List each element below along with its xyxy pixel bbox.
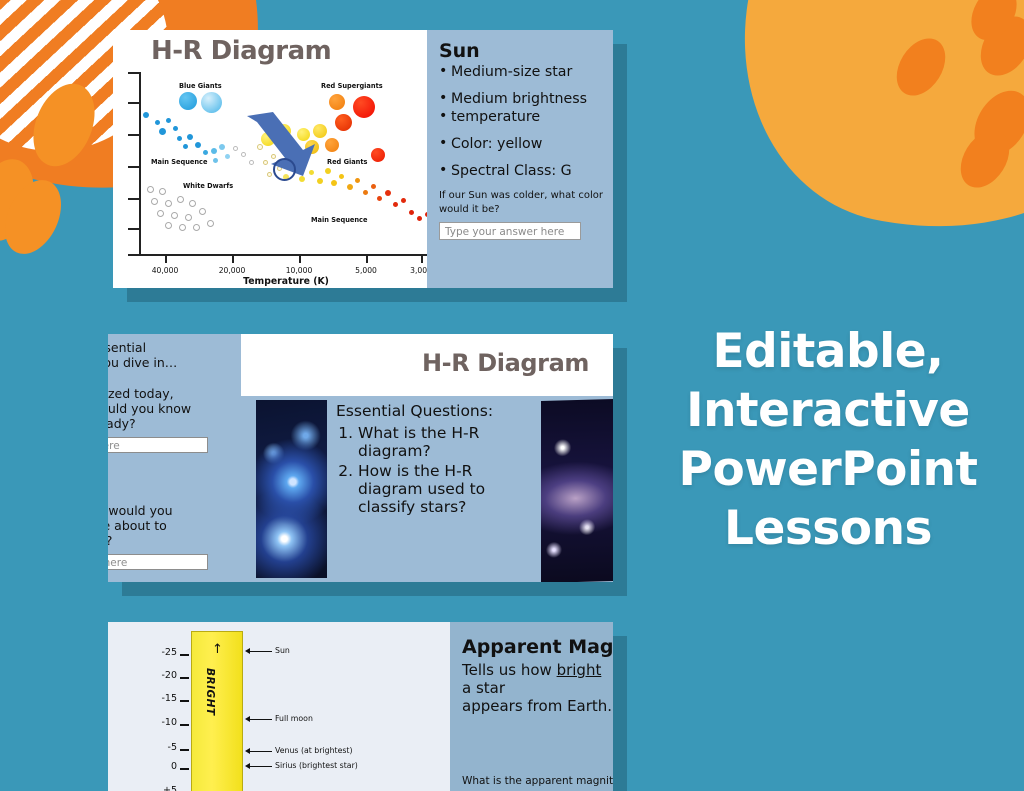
label-red-supergiants: Red Supergiants xyxy=(321,82,383,90)
slide-3-chart-area: Apparent Magnitude ↑ BRIGHT -25 -20 -15 … xyxy=(108,622,450,791)
orange-dot-4 xyxy=(962,0,1024,48)
mag-tick-+5: +5 xyxy=(151,785,177,791)
slide-2-answer-input-2[interactable]: r here xyxy=(108,554,208,570)
essential-questions-list: What is the H-R diagram? How is the H-R … xyxy=(336,424,511,516)
orange-dot-2 xyxy=(970,7,1024,85)
slide-3-text-suffix: a star xyxy=(462,679,505,697)
x-tick-40000: 40,000 xyxy=(145,266,185,275)
mag-tick--20: -20 xyxy=(151,670,177,681)
headline-line-4: Lessons xyxy=(640,499,1016,558)
slide-2-q2-line-3: tly? xyxy=(108,533,238,548)
slide-2-q1-line-2: would you know xyxy=(108,401,238,416)
orange-dot-3 xyxy=(963,81,1024,166)
orange-dot-5 xyxy=(951,122,1019,197)
slide-1-answer-input[interactable]: Type your answer here xyxy=(439,222,581,240)
slide-3-text-line-2: appears from Earth. xyxy=(462,697,612,715)
milky-way-image xyxy=(541,399,613,582)
x-tick-20000: 20,000 xyxy=(212,266,252,275)
x-tick-10000: 10,000 xyxy=(279,266,319,275)
headline-line-1: Editable, xyxy=(640,322,1016,381)
mag-tick-0: 0 xyxy=(151,761,177,772)
question-item-1: What is the H-R diagram? xyxy=(358,424,511,460)
up-arrow-icon: ↑ xyxy=(212,642,223,657)
slide-1-chart-area: H-R Diagram 40,000 xyxy=(113,30,427,288)
slide-3-apparent-magnitude[interactable]: Apparent Magnitude ↑ BRIGHT -25 -20 -15 … xyxy=(108,622,613,791)
label-main-sequence-upper: Main Sequence xyxy=(151,158,207,166)
orange-dot-1 xyxy=(887,30,955,105)
slide-2-right-panel: H-R Diagram Essential Questions: What is… xyxy=(241,334,613,582)
x-axis-title: Temperature (K) xyxy=(139,276,433,287)
slide-1-panel-heading: Sun xyxy=(439,40,603,62)
callout-sun: Sun xyxy=(275,646,290,655)
bullet-temperature-cont: temperature xyxy=(439,109,603,125)
slide-3-underlined-word: bright xyxy=(557,661,602,679)
slide-2-content: Essential Questions: What is the H-R dia… xyxy=(241,396,613,582)
label-red-giants: Red Giants xyxy=(327,158,367,166)
essential-questions-block: Essential Questions: What is the H-R dia… xyxy=(336,402,511,518)
slide-1-title: H-R Diagram xyxy=(151,36,331,66)
hr-diagram-chart: 40,000 20,000 10,000 5,000 3,000 Tempera… xyxy=(121,70,451,285)
essential-questions-heading: Essential Questions: xyxy=(336,402,511,420)
orange-ellipse-3 xyxy=(0,171,72,263)
bullet-medium-brightness: Medium brightness xyxy=(439,91,603,107)
mag-tick--25: -25 xyxy=(151,647,177,658)
x-tick-5000: 5,000 xyxy=(346,266,386,275)
headline-line-3: PowerPoint xyxy=(640,440,1016,499)
slide-2-essential-questions[interactable]: Essential you dive in… uizzed today, wou… xyxy=(108,334,613,582)
y-axis xyxy=(139,72,141,254)
slide-2-left-panel: Essential you dive in… uizzed today, wou… xyxy=(108,334,238,582)
slide-3-heading: Apparent Magnitude xyxy=(462,636,613,658)
bright-label: BRIGHT xyxy=(204,668,216,716)
slide-2-q2-line-2: ore about to xyxy=(108,518,238,533)
headline-line-2: Interactive xyxy=(640,381,1016,440)
slide-2-q2-line-1: ns would you xyxy=(108,503,238,518)
orange-ellipse-1 xyxy=(22,75,106,176)
callout-sirius: Sirius (brightest star) xyxy=(275,761,358,770)
slide-2-q1-line-3: lready? xyxy=(108,416,238,431)
slide-2-header-line-2: you dive in… xyxy=(108,355,238,370)
callout-full-moon: Full moon xyxy=(275,714,313,723)
slide-1-hr-diagram[interactable]: H-R Diagram 40,000 xyxy=(113,30,613,288)
slide-3-question: What is the apparent magnitude xyxy=(462,775,613,787)
question-item-2: How is the H-R diagram used to classify … xyxy=(358,462,511,516)
slide-2-header-line-1: Essential xyxy=(108,340,238,355)
orange-ellipse-2 xyxy=(0,152,44,249)
mag-tick--5: -5 xyxy=(151,742,177,753)
label-white-dwarfs: White Dwarfs xyxy=(183,182,233,190)
mag-tick--10: -10 xyxy=(151,717,177,728)
top-right-orange-blob xyxy=(709,0,1024,267)
slide-1-info-panel: Sun Medium-size star Medium brightness t… xyxy=(427,30,613,288)
slide-2-header-bar: H-R Diagram xyxy=(241,334,613,396)
slide-1-prompt-line-2: would it be? xyxy=(439,204,603,216)
bullet-color: Color: yellow xyxy=(439,136,603,152)
label-blue-giants: Blue Giants xyxy=(179,82,222,90)
slide-3-text: Tells us how bright a star appears from … xyxy=(462,661,613,715)
slide-2-answer-input-1[interactable]: here xyxy=(108,437,208,453)
slide-2-title: H-R Diagram xyxy=(422,349,589,377)
label-main-sequence-lower: Main Sequence xyxy=(311,216,367,224)
sun-highlight-circle xyxy=(273,158,296,181)
nebula-image xyxy=(256,400,327,578)
slide-1-bullet-list: Medium-size star Medium brightness tempe… xyxy=(439,64,603,179)
slide-1-prompt-line-1: If our Sun was colder, what color xyxy=(439,190,603,202)
slide-3-info-panel: Apparent Magnitude Tells us how bright a… xyxy=(450,622,613,791)
callout-venus: Venus (at brightest) xyxy=(275,746,353,755)
poster-canvas: Editable, Interactive PowerPoint Lessons… xyxy=(0,0,1024,791)
bullet-spectral-class: Spectral Class: G xyxy=(439,163,603,179)
slide-3-text-prefix: Tells us how xyxy=(462,661,557,679)
headline: Editable, Interactive PowerPoint Lessons xyxy=(640,322,1016,558)
mag-tick--15: -15 xyxy=(151,693,177,704)
slide-2-q1-line-1: uizzed today, xyxy=(108,386,238,401)
x-axis xyxy=(139,254,433,256)
bullet-medium-size: Medium-size star xyxy=(439,64,603,80)
